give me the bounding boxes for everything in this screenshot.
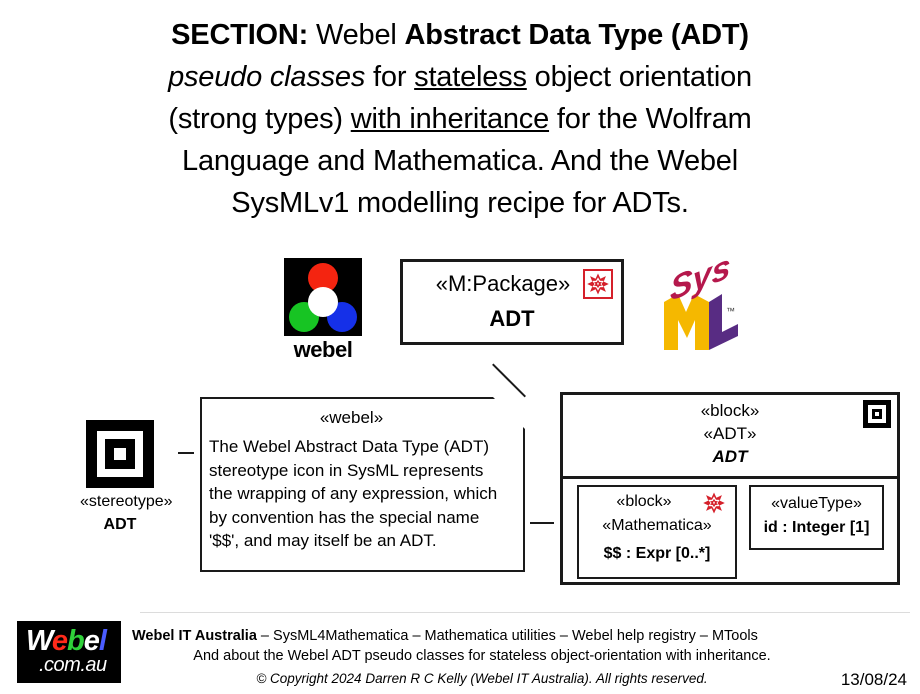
adt-block: «block» «ADT» ADT «block» «Mathematica» … [560,392,900,585]
svg-text:™: ™ [726,306,735,316]
footer-divider [140,612,910,613]
adt-block-header: «block» «ADT» ADT [563,395,897,479]
webel-rgb-icon [284,258,362,336]
mathematica-spikey-icon [703,492,725,514]
mathematica-spikey-icon [583,269,613,299]
adt-block-parts-compartment: «block» «Mathematica» $$ : Expr [0..*] [563,479,897,585]
webel-footer-domain: .com.au [39,654,107,677]
adt-block-stereotype-block: «block» [563,401,897,421]
logo-letter-w: W [26,625,52,657]
logo-letter-l: l [99,625,106,657]
footer-links-text: – SysML4Mathematica – Mathematica utilit… [257,628,758,644]
note-text-line: '$$', and may itself be an ADT. [209,529,517,553]
sysml-cube-logo: Sys ™ [654,258,746,358]
part-property-id: id : Integer [1] [751,519,882,537]
title-text-bold: Abstract Data Type (ADT) [405,19,749,51]
title-line-1: SECTION: Webel Abstract Data Type (ADT) [0,14,920,56]
nested-square-ring-4 [114,448,126,460]
part-valuetype-block: «valueType» id : Integer [1] [749,485,884,550]
part-stereotype-valuetype: «valueType» [751,495,882,513]
part-stereotype-mathematica: «Mathematica» [579,517,735,535]
adt-block-name: ADT [563,447,897,467]
connector-icon-to-note [178,452,194,454]
note-text-line: by convention has the special name [209,506,517,530]
note-text: The Webel Abstract Data Type (ADT) stere… [209,435,517,553]
logo-letter-b: b [67,625,84,657]
title-section-label: SECTION: [171,19,308,51]
footer-date: 13/08/24 [841,670,907,690]
title-text: object orientation [527,61,752,93]
webel-rgb-logo: webel [284,258,362,363]
part-property-expr: $$ : Expr [0..*] [579,545,735,563]
footer-line-2: And about the Webel ADT pseudo classes f… [132,648,832,664]
title-text: Language and Mathematica. And the Webel [182,145,738,177]
title-text: for the Wolfram [549,103,752,135]
nested-square-ring-4 [875,412,879,416]
connector-note-to-block [530,522,554,524]
footer-copyright: © Copyright 2024 Darren R C Kelly (Webel… [132,671,832,686]
webel-note-box: «webel» The Webel Abstract Data Type (AD… [200,397,525,572]
title-line-5: SysMLv1 modelling recipe for ADTs. [0,182,920,224]
mpackage-name-label: ADT [403,306,621,332]
webel-footer-logo: Webel .com.au [17,621,121,683]
title-line-4: Language and Mathematica. And the Webel [0,140,920,182]
title-line-2: pseudo classes for stateless object orie… [0,56,920,98]
logo-letter-e1: e [52,625,67,657]
nested-square-icon [863,400,891,428]
stereotype-keyword-label: «stereotype» [80,493,160,511]
note-text-line: the wrapping of any expression, which [209,482,517,506]
nested-square-icon [86,420,154,488]
sysml-diagram: «stereotype» ADT «webel» The Webel Abstr… [0,390,920,590]
webel-footer-wordmark: Webel [26,625,106,657]
title-text: for [365,61,414,93]
note-text-line: stereotype icon in SysML represents [209,459,517,483]
title-text-underline: with inheritance [351,103,549,135]
footer-company-name: Webel IT Australia [132,628,257,644]
title-text: Webel [308,19,404,51]
webel-wordmark: webel [284,337,362,363]
footer-line-1: Webel IT Australia – SysML4Mathematica –… [132,628,832,644]
title-text: (strong types) [168,103,350,135]
title-line-3: (strong types) with inheritance for the … [0,98,920,140]
adt-block-stereotype-adt: «ADT» [563,424,897,444]
title-text-underline: stateless [414,61,527,93]
note-stereotype-label: «webel» [200,408,525,428]
logo-letter-e2: e [84,625,99,657]
logo-row: webel «M:Package» ADT [0,258,920,370]
title-text: SysMLv1 modelling recipe for ADTs. [231,187,688,219]
stereotype-adt-icon-group: «stereotype» ADT [80,420,160,534]
stereotype-name-label: ADT [80,516,160,534]
white-circle-icon [308,287,338,317]
note-text-line: The Webel Abstract Data Type (ADT) [209,435,517,459]
page-title: SECTION: Webel Abstract Data Type (ADT) … [0,14,920,224]
title-text-italic: pseudo classes [168,61,365,93]
mpackage-adt-box: «M:Package» ADT [400,259,624,345]
part-mathematica-block: «block» «Mathematica» $$ : Expr [0..*] [577,485,737,579]
